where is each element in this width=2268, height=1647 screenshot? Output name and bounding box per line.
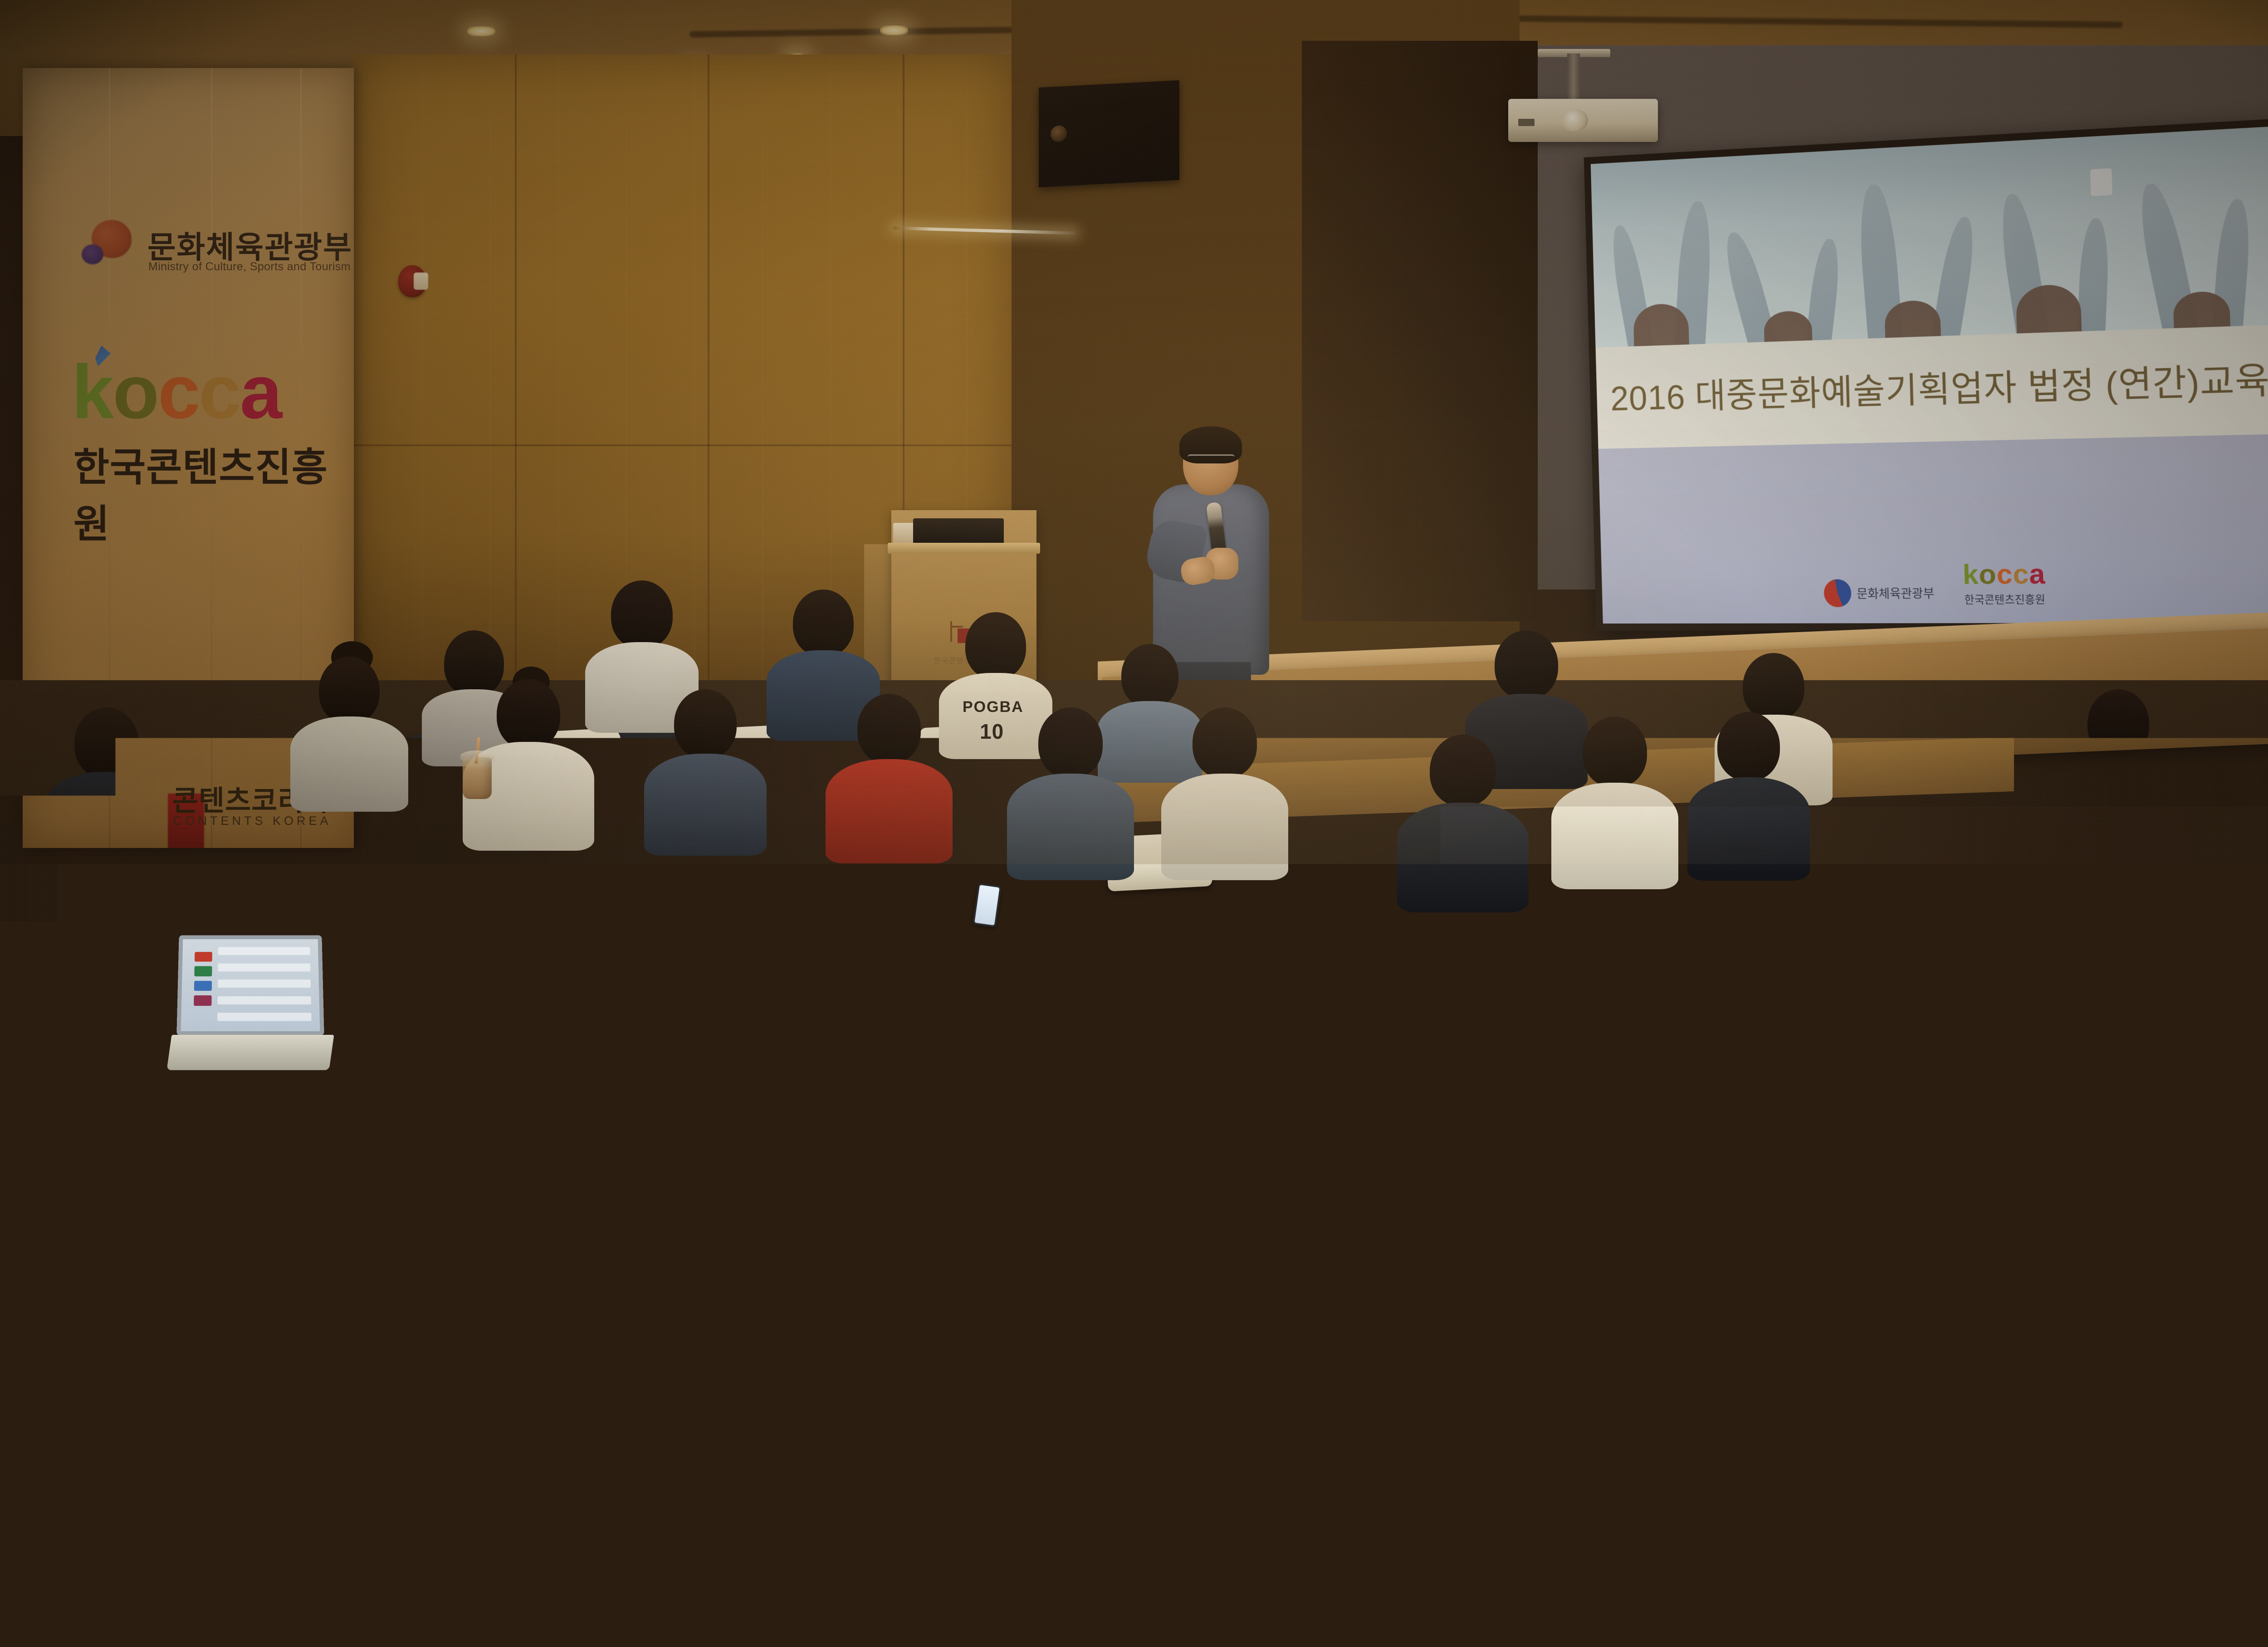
lectern-equipment-box [913, 518, 1004, 545]
projector-icon [1508, 99, 1658, 142]
photo-scene: 문화체육관광부 Ministry of Culture, Sports and … [0, 0, 2268, 1647]
attendee [27, 889, 172, 1084]
jersey-number: 10 [980, 719, 1004, 744]
kocca-letter-k: k [72, 354, 112, 430]
attendee-red-cap [1987, 735, 2123, 916]
slide-title: 2016 대중문화예술기획업자 법정 (연간)교육 [1610, 351, 2268, 421]
attendee [0, 1116, 163, 1369]
kocca-letter-a: a [240, 354, 281, 430]
laptop[interactable] [178, 934, 323, 1070]
banner-kocca-wordmark: kocca [72, 354, 281, 430]
projector-mount [1567, 54, 1580, 104]
iced-coffee-cup[interactable] [1501, 1365, 1551, 1437]
kocca-tick-icon [95, 346, 111, 366]
attendee [1742, 1161, 1941, 1478]
projector-lens-icon [1562, 109, 1588, 132]
banner-kocca-korean: 한국콘텐츠진흥원 [73, 435, 354, 549]
iced-coffee-cup[interactable] [463, 757, 492, 799]
attendee-jumpman-shirt [2023, 966, 2182, 1193]
attendee [290, 653, 408, 807]
kocca-letter-c2: c [199, 354, 240, 430]
attendee [553, 902, 703, 1106]
slide-kocca-logo: kocca 한국콘텐츠진흥원 [1962, 560, 2046, 607]
attendee [1551, 716, 1678, 889]
handout-document[interactable] [1096, 1548, 1254, 1644]
slide-kocca-korean: 한국콘텐츠진흥원 [1963, 590, 2047, 607]
wall-speaker-icon [1039, 80, 1179, 187]
ceiling-light [880, 25, 908, 35]
attendee [658, 1106, 912, 1560]
projection-screen: 2016 대중문화예술기획업자 법정 (연간)교육 문화체육관광부 kocca … [1584, 118, 2268, 631]
banner-ministry-english: Ministry of Culture, Sports and Tourism [148, 260, 351, 273]
attendee [2141, 771, 2268, 952]
handout-document[interactable] [2211, 1546, 2268, 1647]
attendee [1687, 712, 1810, 880]
wall-seam [708, 54, 709, 689]
attendee [2223, 998, 2268, 1224]
cup-lid-icon [796, 976, 836, 989]
kocca-letter-o: o [112, 354, 158, 430]
presenter-glasses-icon [1188, 454, 1235, 463]
fire-alarm-icon [398, 265, 426, 297]
slide-hero-image [1591, 126, 2268, 357]
slide-kocca-wordmark: kocca [1962, 560, 2046, 589]
attendee [1007, 707, 1134, 880]
attendee [254, 1238, 490, 1646]
attendee [1397, 735, 1529, 911]
attendee [1161, 707, 1288, 880]
stage-side-dark [1302, 41, 1538, 621]
cup-lid-icon [1498, 1355, 1546, 1370]
attendee [1429, 1215, 1701, 1646]
attendee [644, 689, 767, 853]
attendee [354, 889, 503, 1093]
laptop-screen[interactable] [176, 935, 324, 1035]
handout-document[interactable]: 중국인의 사고방식 [946, 1194, 1122, 1341]
red-cap-icon [2013, 745, 2099, 799]
handout-document[interactable] [6, 1413, 203, 1521]
cup-lid-icon [460, 750, 494, 761]
slide-ministry-logo: 문화체육관광부 [1823, 579, 1935, 607]
slide-lower-band: 문화체육관광부 kocca 한국콘텐츠진흥원 [1598, 434, 2268, 624]
taegeuk-icon [1823, 579, 1852, 607]
attendee [1084, 907, 1234, 1116]
attendee [1288, 934, 1442, 1152]
lectern-shelf [888, 543, 1040, 554]
ceiling-light [467, 26, 495, 36]
kocca-letter-c1: c [158, 354, 199, 430]
attendee [1706, 1451, 1987, 1647]
iced-coffee-cup[interactable] [798, 984, 834, 1034]
slide-ministry-label: 문화체육관광부 [1856, 584, 1934, 602]
wall-seam [515, 54, 517, 689]
wall-seam [354, 444, 1012, 446]
laptop-keyboard[interactable] [166, 1035, 334, 1070]
ministry-emblem-icon [82, 220, 134, 269]
attendee [826, 694, 953, 862]
